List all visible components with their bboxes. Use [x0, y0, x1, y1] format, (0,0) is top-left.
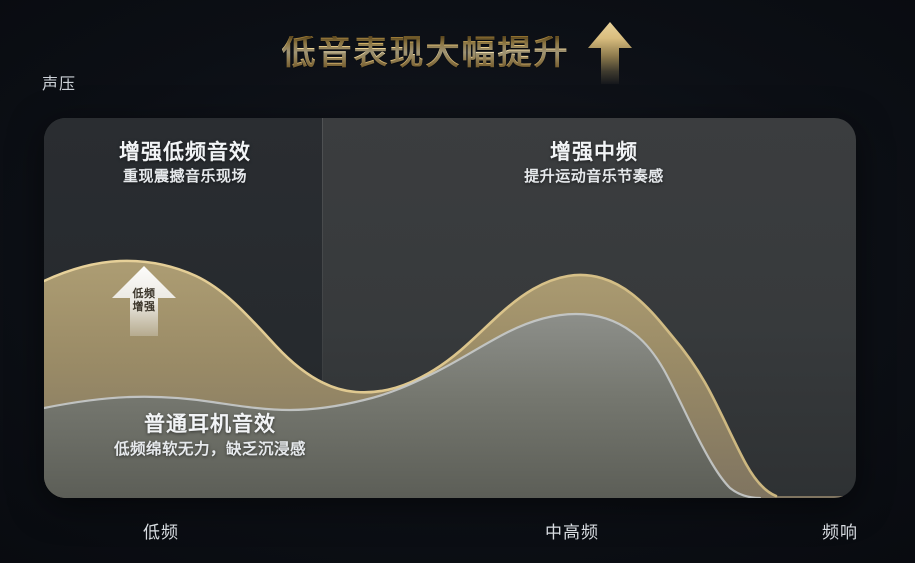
bass-enhancement-infographic: 低音表现大幅提升 声压 — [0, 0, 915, 563]
chart-card: 低频 增强 增强低频音效 重现震撼音乐现场 增强中频 提升运动音乐节奏感 普通耳… — [44, 118, 856, 498]
bass-boost-badge-label: 低频 增强 — [108, 288, 180, 315]
y-axis-label: 声压 — [42, 70, 76, 94]
x-axis-label-mid-high: 中高频 — [545, 518, 599, 543]
bass-boost-badge: 低频 增强 — [108, 264, 180, 336]
arrow-up-icon — [586, 20, 634, 86]
bass-boost-line2: 增强 — [108, 301, 180, 314]
bass-boost-line1: 低频 — [108, 288, 180, 301]
page-title: 低音表现大幅提升 — [282, 36, 570, 70]
x-axis-label-low: 低频 — [143, 518, 179, 543]
headline: 低音表现大幅提升 — [0, 20, 915, 86]
x-axis-label-response: 频响 — [822, 518, 858, 543]
